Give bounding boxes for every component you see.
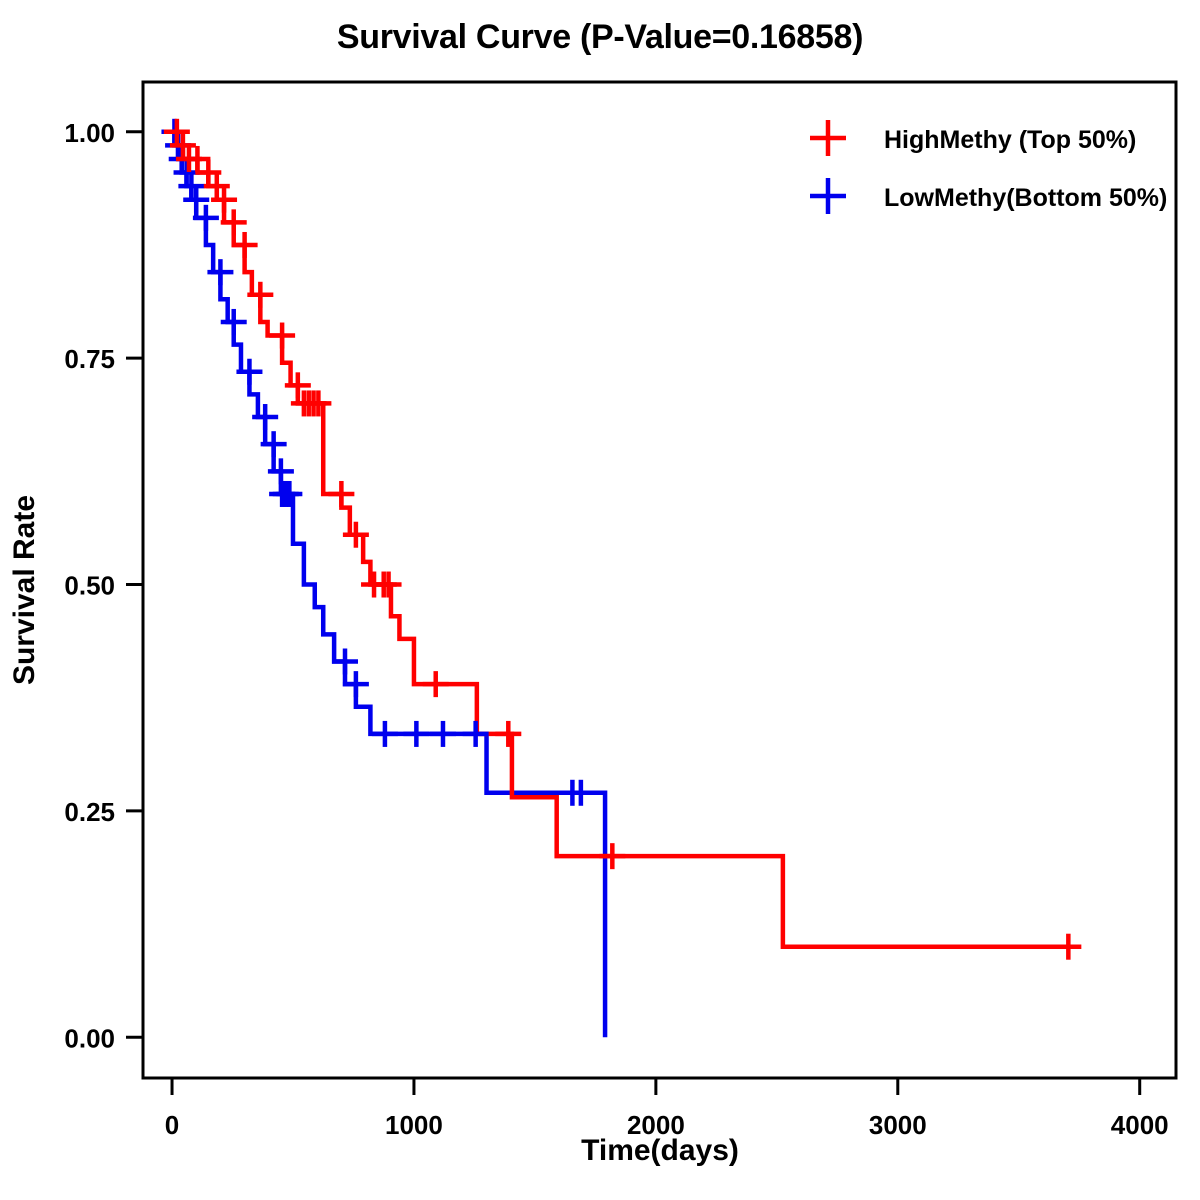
legend-label-high-methy: HighMethy (Top 50%) bbox=[884, 126, 1136, 154]
censor-marks-high-methy bbox=[164, 119, 1081, 960]
curve-layer bbox=[172, 132, 1068, 1037]
y-tick-label-0.00: 0.00 bbox=[64, 1023, 115, 1053]
legend-item-high-methy: HighMethy (Top 50%) bbox=[810, 120, 1136, 156]
survival-curve-figure: Survival Curve (P-Value=0.16858) 0100020… bbox=[0, 0, 1200, 1200]
curve-high-methy bbox=[172, 132, 1068, 947]
y-tick-label-0.25: 0.25 bbox=[64, 797, 115, 827]
y-tick-label-0.50: 0.50 bbox=[64, 571, 115, 601]
x-tick-label-4000: 4000 bbox=[1111, 1110, 1169, 1140]
legend-label-low-methy: LowMethy(Bottom 50%) bbox=[884, 184, 1167, 212]
y-tick-label-1.00: 1.00 bbox=[64, 118, 115, 148]
x-tick-label-1000: 1000 bbox=[385, 1110, 443, 1140]
plot-frame bbox=[143, 82, 1176, 1078]
y-axis-ticks: 0.000.250.500.751.00 bbox=[64, 118, 143, 1053]
legend: HighMethy (Top 50%)LowMethy(Bottom 50%) bbox=[810, 120, 1167, 214]
y-axis-label: Survival Rate bbox=[8, 495, 41, 685]
legend-item-low-methy: LowMethy(Bottom 50%) bbox=[810, 178, 1167, 214]
censor-marks-layer bbox=[161, 119, 1081, 960]
survival-plot: 01000200030004000 0.000.250.500.751.00 T… bbox=[0, 0, 1200, 1200]
x-tick-label-0: 0 bbox=[165, 1110, 179, 1140]
x-tick-label-3000: 3000 bbox=[869, 1110, 927, 1140]
x-axis-label: Time(days) bbox=[581, 1134, 739, 1167]
y-tick-label-0.75: 0.75 bbox=[64, 344, 115, 374]
x-axis-ticks: 01000200030004000 bbox=[165, 1078, 1169, 1140]
